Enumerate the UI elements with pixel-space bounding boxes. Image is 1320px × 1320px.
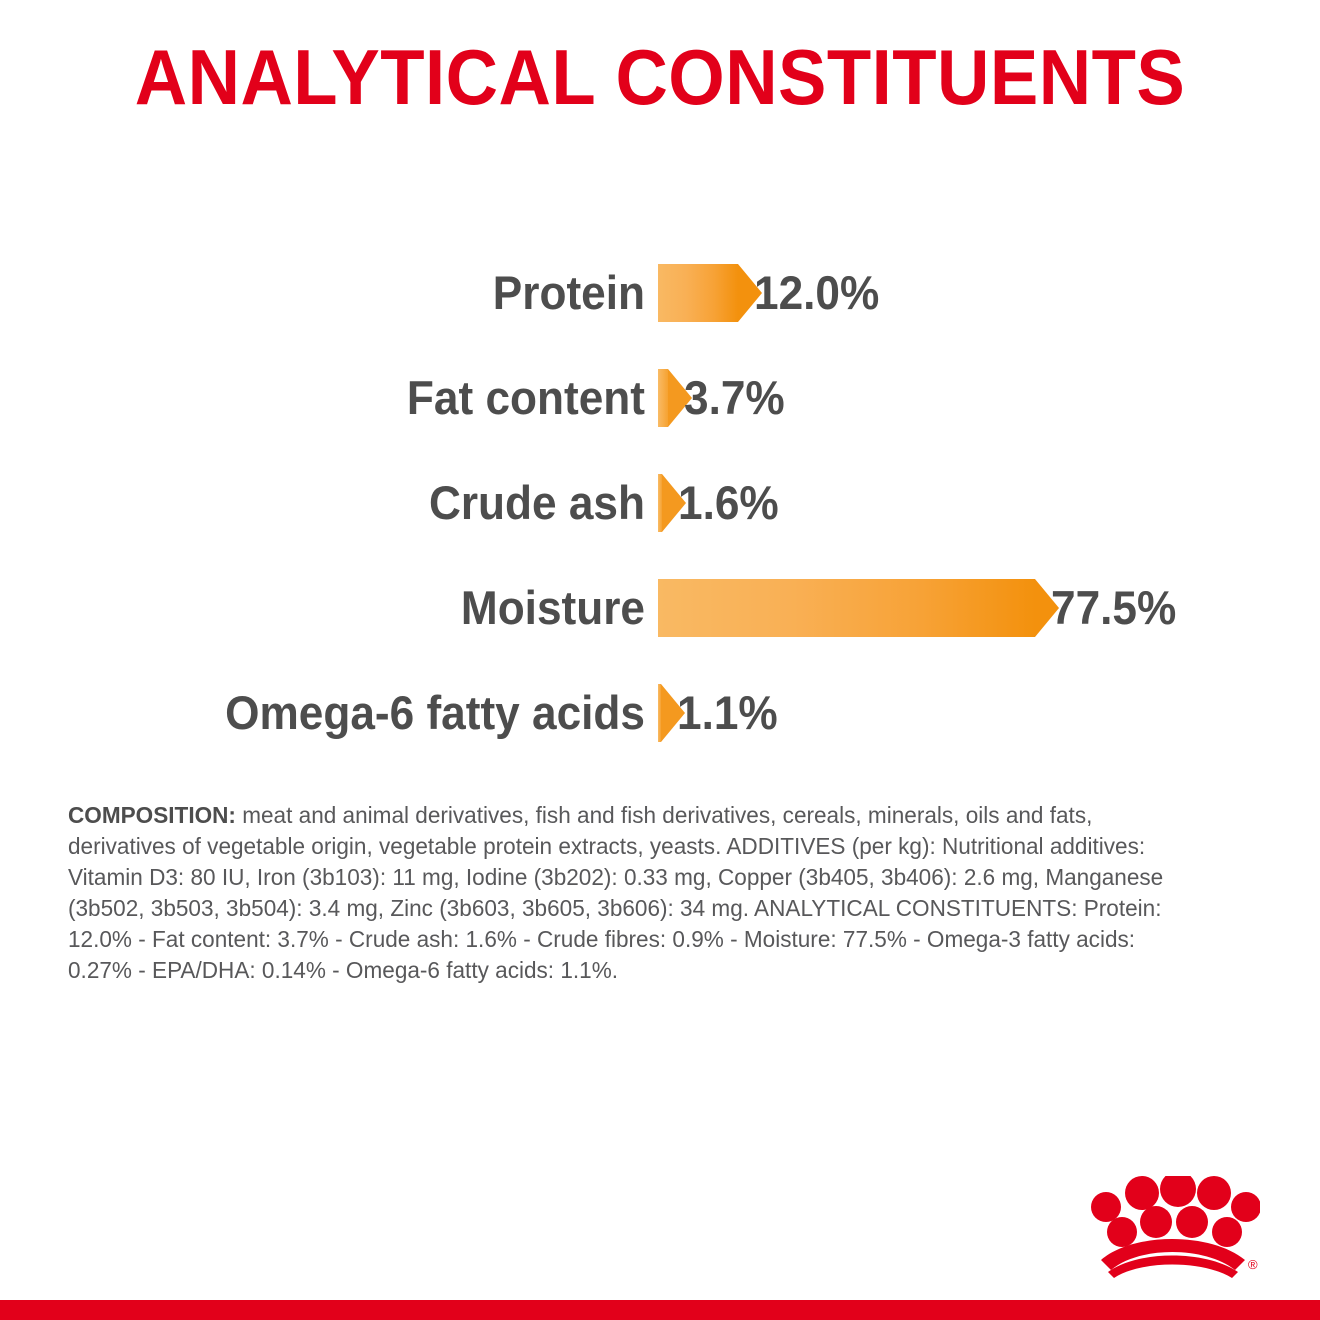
- product-spec-panel: ANALYTICAL CONSTITUENTS Protein12.0%Fat …: [0, 0, 1320, 1320]
- constituent-value: 3.7%: [684, 374, 785, 421]
- constituent-bar-wrap: [658, 579, 1035, 637]
- page-title: ANALYTICAL CONSTITUENTS: [46, 38, 1274, 116]
- composition-body: meat and animal derivatives, fish and fi…: [68, 802, 1163, 983]
- constituent-row: Fat content3.7%: [0, 345, 1320, 450]
- constituents-chart: Protein12.0%Fat content3.7%Crude ash1.6%…: [0, 240, 1320, 765]
- constituent-value: 77.5%: [1051, 584, 1176, 631]
- constituent-value: 1.6%: [678, 479, 779, 526]
- composition-heading: COMPOSITION:: [68, 802, 236, 828]
- composition-paragraph: COMPOSITION: meat and animal derivatives…: [68, 800, 1174, 986]
- constituent-label: Omega-6 fatty acids: [39, 689, 645, 736]
- constituent-bar-wrap: [658, 474, 662, 532]
- constituent-bar: [658, 264, 738, 322]
- constituent-value: 1.1%: [677, 689, 778, 736]
- constituent-row: Protein12.0%: [0, 240, 1320, 345]
- constituent-label: Crude ash: [39, 479, 645, 526]
- bottom-accent-bar: [0, 1300, 1320, 1320]
- constituent-bar: [658, 369, 668, 427]
- constituent-row: Crude ash1.6%: [0, 450, 1320, 555]
- constituent-bar-wrap: [658, 369, 668, 427]
- constituent-bar-wrap: [658, 684, 661, 742]
- constituent-label: Moisture: [39, 584, 645, 631]
- constituent-bar-wrap: [658, 264, 738, 322]
- constituent-row: Moisture77.5%: [0, 555, 1320, 660]
- constituent-row: Omega-6 fatty acids1.1%: [0, 660, 1320, 765]
- constituent-value: 12.0%: [754, 269, 879, 316]
- constituent-label: Protein: [39, 269, 645, 316]
- constituent-label: Fat content: [39, 374, 645, 421]
- constituent-bar: [658, 684, 661, 742]
- constituent-bar: [658, 474, 662, 532]
- registered-trademark-mark: ®: [1248, 1257, 1258, 1272]
- constituent-bar: [658, 579, 1035, 637]
- royal-canin-crown-logo: ®: [1088, 1176, 1260, 1280]
